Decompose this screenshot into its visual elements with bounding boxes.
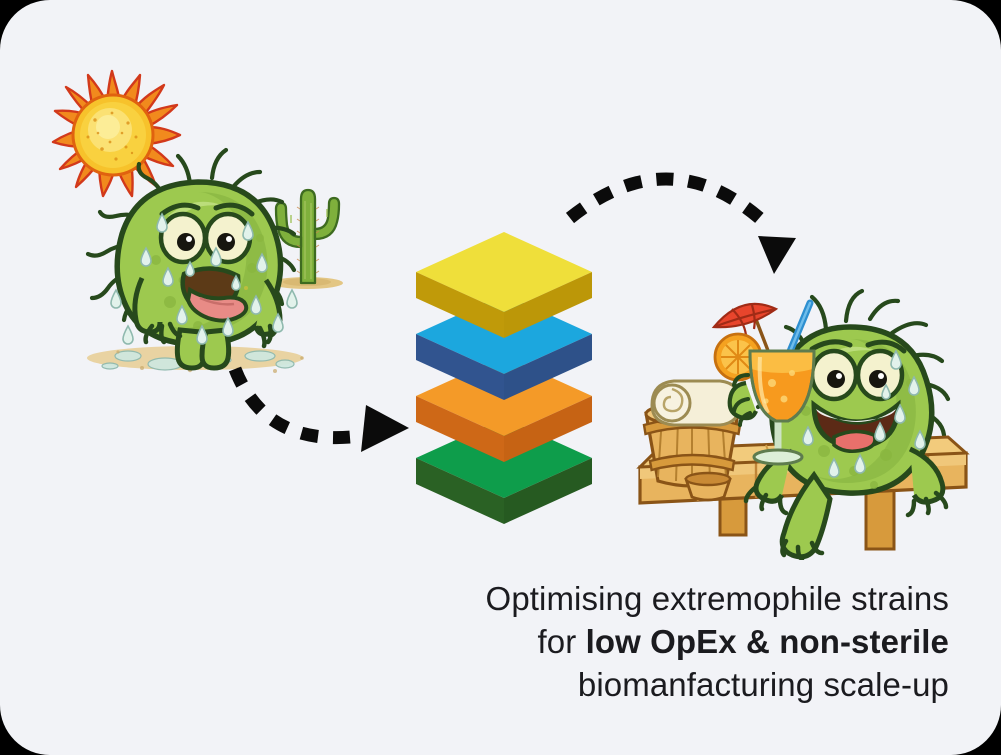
poster-card: Optimising extremophile strains for low … [0, 0, 1001, 755]
sweating-microbe [70, 130, 320, 375]
caption-line-2-prefix: for [537, 623, 585, 660]
caption-line-1: Optimising extremophile strains [486, 578, 949, 621]
sauna-bucket [644, 381, 740, 500]
rolled-towel [652, 381, 740, 425]
caption-block: Optimising extremophile strains for low … [486, 578, 949, 707]
caption-line-2: for low OpEx & non-sterile [486, 621, 949, 664]
caption-line-3: biomanfacturing scale-up [486, 664, 949, 707]
relaxed-microbe-on-sauna-bench [628, 265, 983, 560]
illustration-scene: Optimising extremophile strains for low … [0, 0, 1001, 755]
caption-line-2-bold: low OpEx & non-sterile [586, 623, 949, 660]
arrow-stressed-to-stack [195, 355, 425, 465]
